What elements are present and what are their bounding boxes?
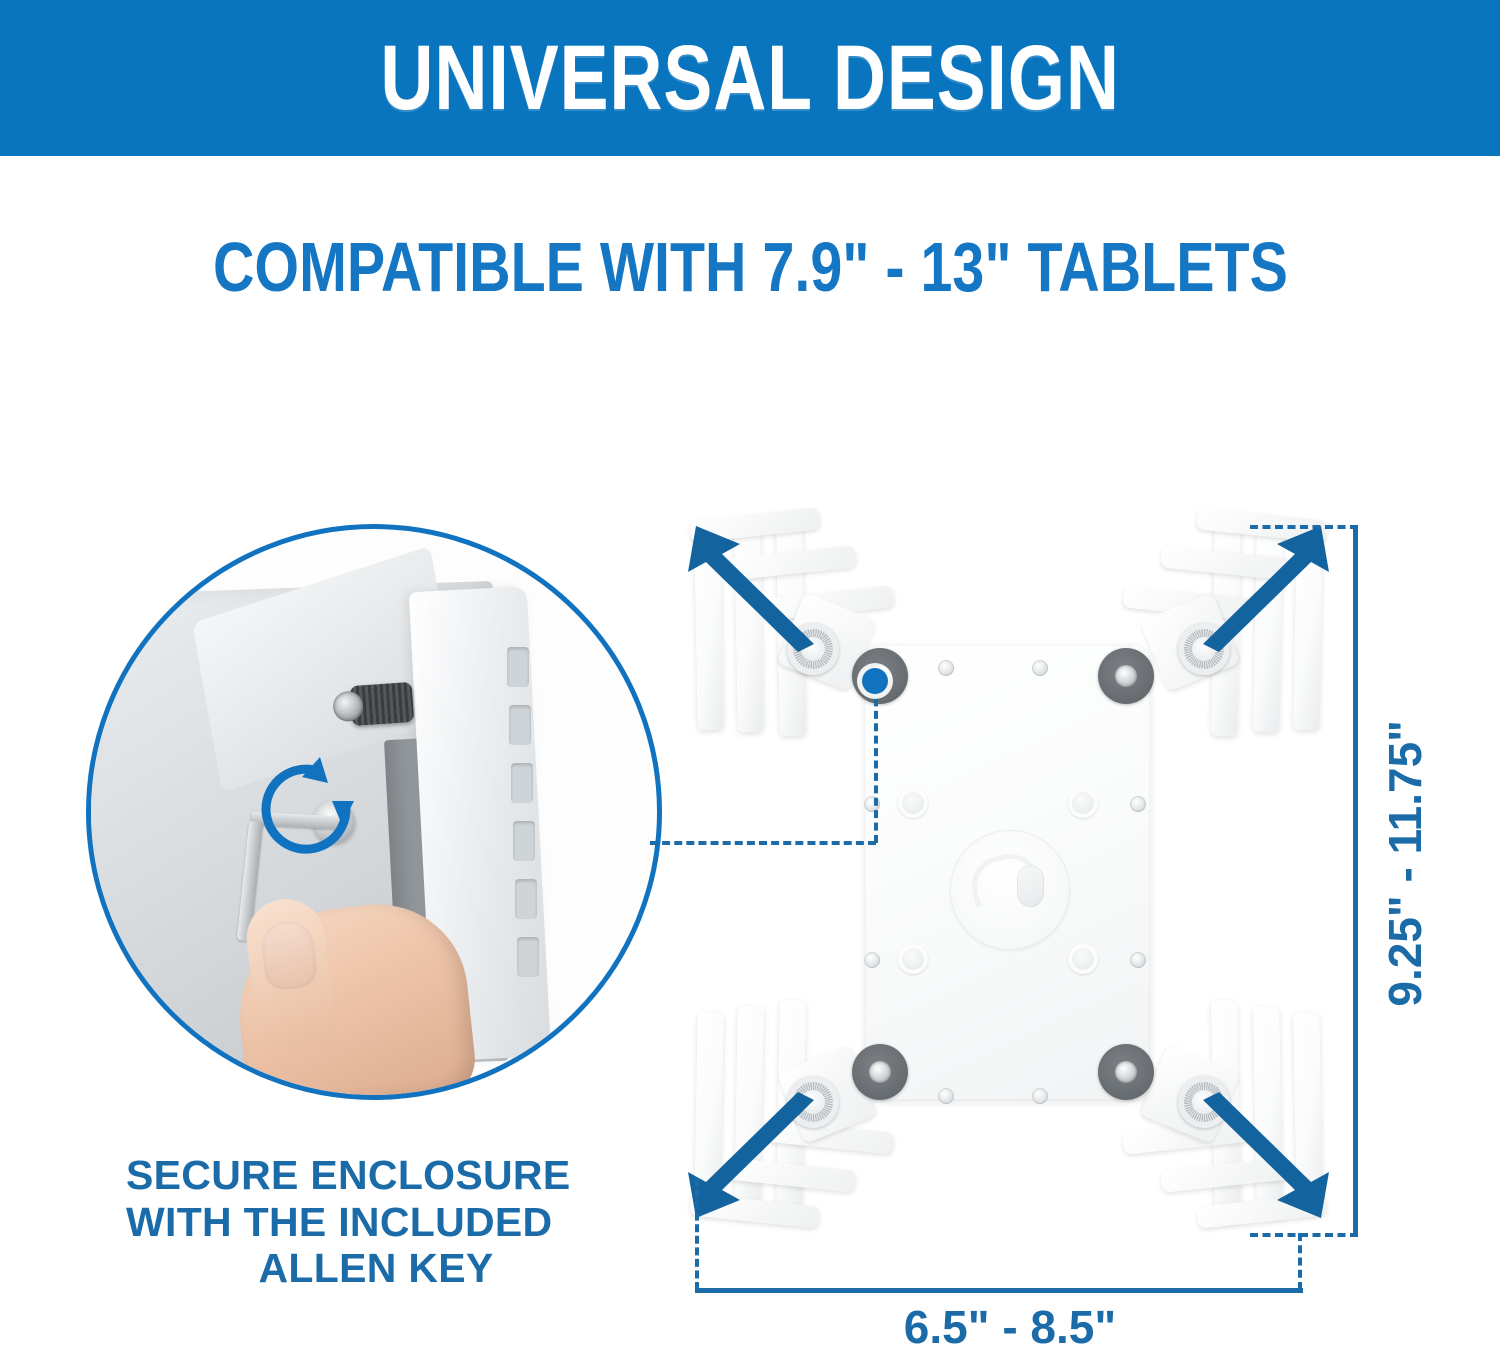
- camera-cutout-lens: [1017, 865, 1044, 907]
- vent-slot: [507, 647, 529, 687]
- plate-screw: [938, 1088, 954, 1104]
- callout-leader-horizontal: [650, 841, 876, 845]
- dim-line-vertical: [1353, 525, 1358, 1235]
- dim-leader-bottom-right-drop: [1298, 1233, 1302, 1290]
- dim-leader-bottom-left: [695, 1178, 699, 1290]
- closeup-photo-circle: [86, 524, 662, 1100]
- closeup-caption-line-1: SECURE ENCLOSURE: [126, 1152, 626, 1199]
- plate-screw: [1032, 660, 1048, 676]
- plate-screw: [1130, 796, 1146, 812]
- expand-arrow-top-left-icon: [682, 522, 822, 652]
- corner-pad-bottom-left: [852, 1044, 908, 1100]
- plate-screw: [1032, 1088, 1048, 1104]
- dim-leader-bottom-right: [1250, 1233, 1358, 1237]
- plate-screw: [864, 952, 880, 968]
- corner-pad-bottom-right: [1098, 1044, 1154, 1100]
- callout-marker-dot: [862, 668, 888, 694]
- closeup-caption-line-3: ALLEN KEY: [126, 1245, 626, 1292]
- page-title: UNIVERSAL DESIGN: [380, 32, 1119, 124]
- vent-slot: [517, 937, 539, 977]
- vent-slot: [515, 879, 537, 919]
- corner-pad-top-right: [1098, 648, 1154, 704]
- plate-screw: [938, 660, 954, 676]
- dim-line-horizontal: [695, 1288, 1303, 1293]
- compatibility-subtitle: COMPATIBLE WITH 7.9" - 13" TABLETS: [0, 232, 1500, 302]
- plate-mount-hole: [1068, 944, 1098, 974]
- vent-slot: [509, 705, 531, 745]
- closeup-caption-line-2: WITH THE INCLUDED: [126, 1199, 626, 1246]
- compatibility-subtitle-text: COMPATIBLE WITH 7.9" - 13" TABLETS: [213, 232, 1288, 302]
- plate-screw: [1130, 952, 1146, 968]
- header-banner: UNIVERSAL DESIGN: [0, 0, 1500, 156]
- vent-slot: [511, 763, 533, 803]
- vent-slot: [513, 821, 535, 861]
- callout-leader-vertical: [874, 686, 878, 843]
- expand-arrow-bottom-left-icon: [682, 1092, 822, 1222]
- knurled-knob: [350, 682, 415, 726]
- dim-leader-top-right: [1250, 525, 1358, 529]
- plate-mount-hole: [898, 788, 928, 818]
- plate-mount-hole: [898, 944, 928, 974]
- dim-label-horizontal: 6.5" - 8.5": [830, 1300, 1190, 1354]
- rotation-arrow-icon: [246, 749, 366, 869]
- expand-arrow-bottom-right-icon: [1195, 1092, 1335, 1222]
- closeup-photo: [91, 529, 657, 1095]
- closeup-caption: SECURE ENCLOSURE WITH THE INCLUDED ALLEN…: [126, 1152, 626, 1292]
- product-illustration: [660, 500, 1360, 1290]
- dim-label-vertical: 9.25" - 11.75": [1378, 720, 1432, 1007]
- plate-mount-hole: [1068, 788, 1098, 818]
- expand-arrow-top-right-icon: [1195, 522, 1335, 652]
